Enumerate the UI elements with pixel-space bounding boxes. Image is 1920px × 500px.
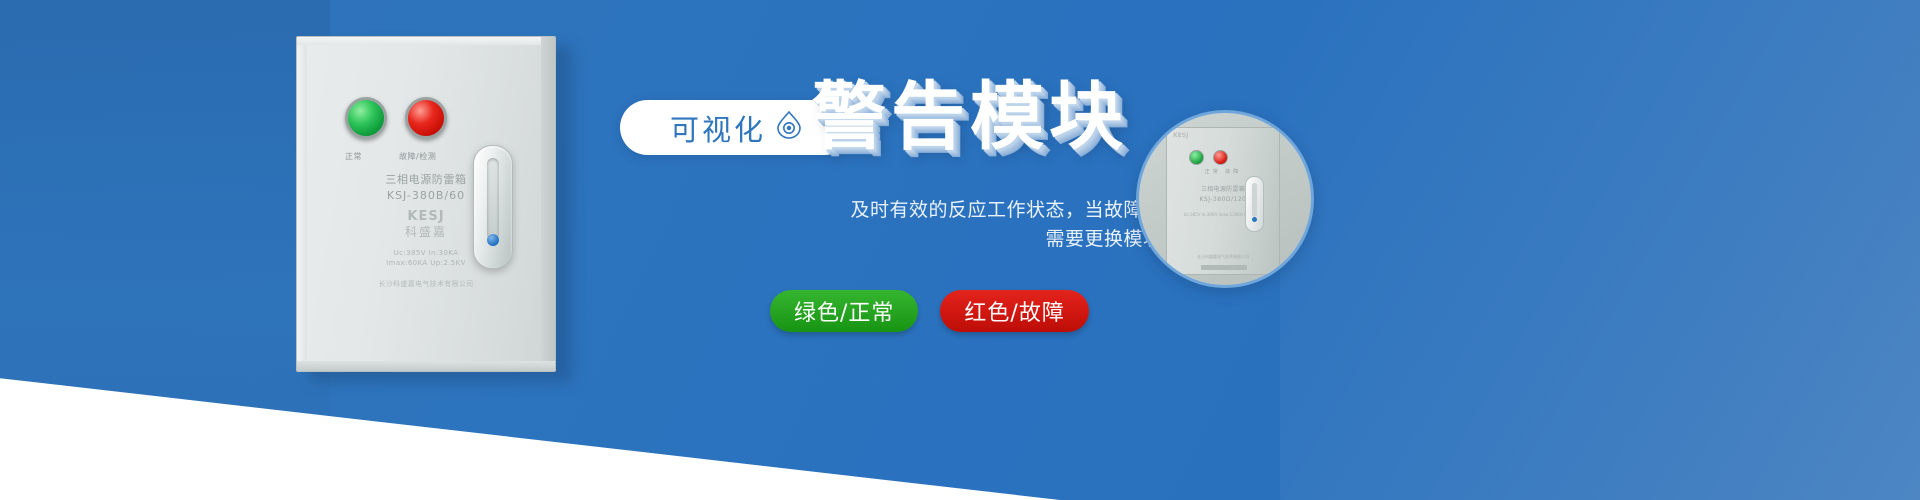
device-circle-inset: KESJ 正常 故障 三相电源防雷箱 KSJ-380D/120 Uc:385V …: [1136, 110, 1314, 288]
eye-diamond-icon: [776, 110, 802, 145]
device-photo: 正常 故障/检测 三相电源防雷箱 KSJ-380B/60 KESJ 科盛嘉 Uc…: [296, 36, 558, 372]
page-title: 警告模块: [812, 80, 1128, 154]
device-spec-line-1: Uc:385V In:30KA: [297, 249, 555, 257]
status-badge-normal: 绿色/正常: [770, 290, 918, 332]
cabinet-top-edge: [297, 37, 555, 45]
green-lamp-label: 正常: [345, 151, 362, 162]
promo-banner: 正常 故障/检测 三相电源防雷箱 KSJ-380B/60 KESJ 科盛嘉 Uc…: [0, 0, 1920, 500]
cabinet-left-edge: [297, 37, 307, 371]
cabinet-door-handle: [473, 145, 513, 269]
device-company-name: 长沙科盛嘉电气技术有限公司: [297, 279, 555, 289]
status-badge-group: 绿色/正常 红色/故障: [770, 290, 1089, 332]
background-right-highlight: [1280, 0, 1920, 500]
inset-green-lamp: [1189, 150, 1204, 165]
device-model: KSJ-380B/60: [297, 189, 555, 202]
cabinet-right-edge: [541, 37, 555, 371]
red-indicator-lamp: [405, 97, 447, 139]
inset-red-lamp: [1213, 150, 1228, 165]
inset-handle-lock-dot: [1252, 217, 1257, 222]
device-brand-en: KESJ: [297, 209, 555, 224]
pill-label: 可视化: [670, 107, 766, 149]
inset-lamp-labels: 正常 故障: [1167, 168, 1279, 175]
device-brand-cn: 科盛嘉: [297, 223, 555, 240]
device-spec-line-2: Imax:60KA Up:2.5KV: [297, 259, 555, 267]
inset-terminal-strip: [1201, 265, 1247, 270]
inset-brand-en: KESJ: [1173, 132, 1188, 139]
device-cabinet: 正常 故障/检测 三相电源防雷箱 KSJ-380B/60 KESJ 科盛嘉 Uc…: [296, 36, 556, 372]
device-product-name: 三相电源防雷箱: [297, 171, 555, 187]
inset-company-name: 长沙科盛嘉电气技术有限公司: [1167, 254, 1279, 260]
inset-handle-slot: [1252, 183, 1257, 217]
status-badge-fault: 红色/故障: [940, 290, 1088, 332]
inset-cabinet: KESJ 正常 故障 三相电源防雷箱 KSJ-380D/120 Uc:385V …: [1166, 127, 1280, 275]
green-indicator-lamp: [345, 97, 387, 139]
handle-lock-dot: [487, 234, 499, 246]
cabinet-bottom-edge: [297, 361, 555, 371]
handle-slot: [487, 158, 499, 240]
red-lamp-label: 故障/检测: [399, 151, 436, 162]
inset-door-handle: [1245, 176, 1264, 232]
